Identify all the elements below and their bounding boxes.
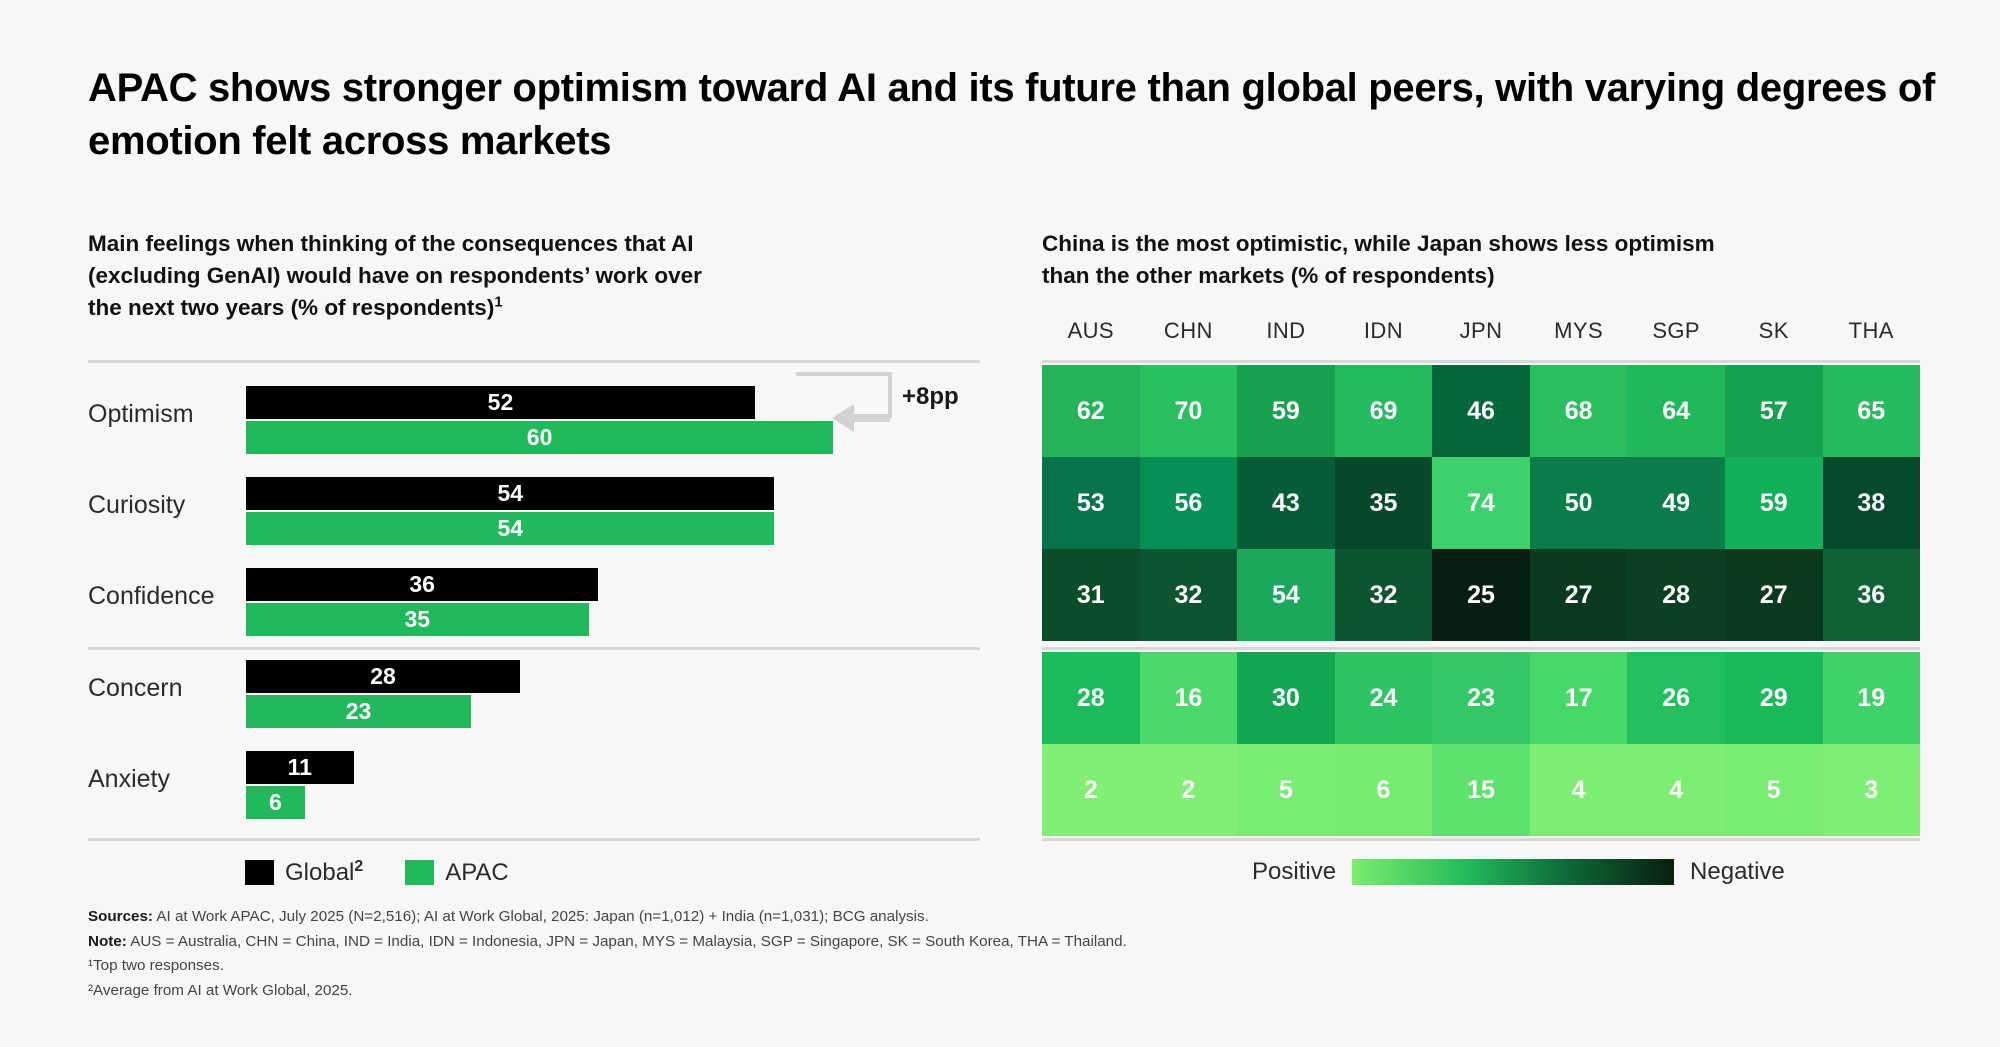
bar-group-confidence: Confidence3635 (88, 568, 980, 636)
heatmap-cell-confidence-tha: 36 (1823, 549, 1921, 641)
callout-arrow-icon (790, 366, 1010, 436)
bar-apac-anxiety: 6 (246, 786, 305, 819)
bar-global-concern: 28 (246, 660, 520, 693)
bar-category-label-curiosity: Curiosity (88, 491, 240, 520)
left-subtitle-line-1: Main feelings when thinking of the conse… (88, 231, 693, 256)
column-header-sk: SK (1725, 318, 1823, 344)
gradient-legend-label-negative: Negative (1690, 858, 1785, 886)
bar-value-label: 6 (269, 791, 282, 814)
heatmap-cell-optimism-tha: 65 (1823, 365, 1921, 457)
bar-value-label: 23 (346, 700, 372, 723)
bar-value-label: 36 (409, 573, 435, 596)
legend-item-apac: APAC (405, 859, 509, 887)
heatmap-cell-anxiety-ind: 5 (1237, 744, 1335, 836)
page-title: APAC shows stronger optimism toward AI a… (88, 62, 1938, 168)
footnote-sources: Sources: AI at Work APAC, July 2025 (N=2… (88, 905, 1588, 930)
legend-label-global: Global2 (285, 858, 363, 887)
column-header-chn: CHN (1140, 318, 1238, 344)
heatmap-cell-curiosity-chn: 56 (1140, 457, 1238, 549)
heatmap-group-negative: 2816302423172629192256154453 (1042, 652, 1920, 836)
left-subtitle-line-3: the next two years (% of respondents) (88, 295, 494, 320)
footnote-note: Note: AUS = Australia, CHN = China, IND … (88, 930, 1588, 955)
bar-category-label-confidence: Confidence (88, 582, 240, 611)
legend-item-global: Global2 (245, 858, 363, 887)
gradient-legend-bar (1352, 859, 1674, 885)
right-divider-mid (1042, 647, 1920, 650)
bar-value-label: 11 (288, 756, 312, 779)
bar-global-optimism: 52 (246, 386, 755, 419)
heatmap-cell-concern-sk: 29 (1725, 652, 1823, 744)
bar-group-anxiety: Anxiety116 (88, 751, 980, 819)
legend-global-footnote-marker: 2 (354, 858, 363, 875)
legend-label-apac: APAC (445, 859, 509, 887)
heatmap-cell-optimism-jpn: 46 (1432, 365, 1530, 457)
heatmap-column-headers: AUS CHN IND IDN JPN MYS SGP SK THA (1042, 318, 1920, 344)
heatmap-cell-concern-jpn: 23 (1432, 652, 1530, 744)
heatmap-cell-optimism-mys: 68 (1530, 365, 1628, 457)
heatmap-cell-concern-sgp: 26 (1627, 652, 1725, 744)
heatmap-cell-confidence-idn: 32 (1335, 549, 1433, 641)
right-subtitle-line-2: than the other markets (% of respondents… (1042, 263, 1495, 288)
heatmap-cell-curiosity-sk: 59 (1725, 457, 1823, 549)
heatmap-cell-optimism-chn: 70 (1140, 365, 1238, 457)
right-divider-bottom (1042, 838, 1920, 841)
heatmap-row-anxiety: 2256154453 (1042, 744, 1920, 836)
heatmap-cell-confidence-sgp: 28 (1627, 549, 1725, 641)
heatmap-cell-concern-aus: 28 (1042, 652, 1140, 744)
heatmap-cell-optimism-sk: 57 (1725, 365, 1823, 457)
delta-callout: +8pp (790, 366, 1010, 436)
heatmap-cell-anxiety-mys: 4 (1530, 744, 1628, 836)
heatmap-group-positive: 6270596946686457655356433574504959383132… (1042, 365, 1920, 641)
heatmap-cell-optimism-sgp: 64 (1627, 365, 1725, 457)
heatmap-cell-optimism-ind: 59 (1237, 365, 1335, 457)
heatmap-cell-concern-mys: 17 (1530, 652, 1628, 744)
heatmap-cell-curiosity-aus: 53 (1042, 457, 1140, 549)
bar-global-anxiety: 11 (246, 751, 354, 784)
heatmap-cell-anxiety-idn: 6 (1335, 744, 1433, 836)
heatmap-cell-anxiety-jpn: 15 (1432, 744, 1530, 836)
column-header-aus: AUS (1042, 318, 1140, 344)
column-header-ind: IND (1237, 318, 1335, 344)
bar-value-label: 54 (497, 517, 523, 540)
footnote-1: ¹Top two responses. (88, 954, 1588, 979)
slide-canvas: APAC shows stronger optimism toward AI a… (0, 0, 2000, 1047)
heatmap-cell-confidence-mys: 27 (1530, 549, 1628, 641)
heatmap-cell-confidence-aus: 31 (1042, 549, 1140, 641)
heatmap-cell-anxiety-chn: 2 (1140, 744, 1238, 836)
bar-global-confidence: 36 (246, 568, 598, 601)
heatmap-row-confidence: 313254322527282736 (1042, 549, 1920, 641)
footnote-note-text: AUS = Australia, CHN = China, IND = Indi… (127, 933, 1127, 950)
bar-track-curiosity: 5454 (246, 477, 980, 545)
bar-global-curiosity: 54 (246, 477, 774, 510)
bar-category-label-concern: Concern (88, 674, 240, 703)
series-legend: Global2 APAC (245, 858, 535, 887)
heatmap-cell-concern-idn: 24 (1335, 652, 1433, 744)
left-divider-bottom (88, 838, 980, 841)
legend-swatch-global (245, 860, 274, 885)
right-divider-top (1042, 360, 1920, 363)
bar-track-concern: 2823 (246, 660, 980, 728)
bar-track-anxiety: 116 (246, 751, 980, 819)
bar-category-label-optimism: Optimism (88, 400, 240, 429)
bar-apac-confidence: 35 (246, 603, 589, 636)
heatmap-cell-confidence-ind: 54 (1237, 549, 1335, 641)
bar-track-confidence: 3635 (246, 568, 980, 636)
heatmap-cell-curiosity-jpn: 74 (1432, 457, 1530, 549)
left-panel-subtitle: Main feelings when thinking of the conse… (88, 228, 918, 324)
heatmap-cell-anxiety-aus: 2 (1042, 744, 1140, 836)
heatmap-cell-curiosity-sgp: 49 (1627, 457, 1725, 549)
heatmap-cell-anxiety-sk: 5 (1725, 744, 1823, 836)
right-panel-subtitle: China is the most optimistic, while Japa… (1042, 228, 1942, 292)
heatmap-cell-curiosity-tha: 38 (1823, 457, 1921, 549)
bar-category-label-anxiety: Anxiety (88, 765, 240, 794)
footnote-sources-text: AI at Work APAC, July 2025 (N=2,516); AI… (153, 908, 929, 925)
column-header-jpn: JPN (1432, 318, 1530, 344)
heatmap-cell-confidence-jpn: 25 (1432, 549, 1530, 641)
column-header-mys: MYS (1530, 318, 1628, 344)
heatmap-row-concern: 281630242317262919 (1042, 652, 1920, 744)
heatmap-cell-confidence-sk: 27 (1725, 549, 1823, 641)
bar-group-curiosity: Curiosity5454 (88, 477, 980, 545)
heatmap-cell-anxiety-tha: 3 (1823, 744, 1921, 836)
bar-value-label: 60 (527, 426, 553, 449)
bar-apac-optimism: 60 (246, 421, 833, 454)
heatmap-cell-optimism-aus: 62 (1042, 365, 1140, 457)
bar-value-label: 52 (488, 391, 514, 414)
gradient-legend: Positive Negative (1252, 858, 1785, 886)
right-subtitle-line-1: China is the most optimistic, while Japa… (1042, 231, 1715, 256)
footnotes: Sources: AI at Work APAC, July 2025 (N=2… (88, 905, 1588, 1004)
legend-swatch-apac (405, 860, 434, 885)
footnote-note-label: Note: (88, 933, 127, 950)
heatmap-row-optimism: 627059694668645765 (1042, 365, 1920, 457)
heatmap-cell-confidence-chn: 32 (1140, 549, 1238, 641)
delta-callout-label: +8pp (902, 383, 959, 411)
bar-apac-concern: 23 (246, 695, 471, 728)
column-header-idn: IDN (1335, 318, 1433, 344)
heatmap-cell-concern-tha: 19 (1823, 652, 1921, 744)
heatmap-row-curiosity: 535643357450495938 (1042, 457, 1920, 549)
left-subtitle-line-2: (excluding GenAI) would have on responde… (88, 263, 702, 288)
heatmap-cell-optimism-idn: 69 (1335, 365, 1433, 457)
heatmap-cell-curiosity-ind: 43 (1237, 457, 1335, 549)
footnote-sources-label: Sources: (88, 908, 153, 925)
gradient-legend-label-positive: Positive (1252, 858, 1336, 886)
bar-value-label: 54 (497, 482, 523, 505)
heatmap-cell-concern-ind: 30 (1237, 652, 1335, 744)
footnote-2: ²Average from AI at Work Global, 2025. (88, 979, 1588, 1004)
heatmap-cell-curiosity-mys: 50 (1530, 457, 1628, 549)
heatmap-cell-concern-chn: 16 (1140, 652, 1238, 744)
column-header-sgp: SGP (1627, 318, 1725, 344)
bar-apac-curiosity: 54 (246, 512, 774, 545)
column-header-tha: THA (1823, 318, 1921, 344)
left-subtitle-footnote-marker: 1 (494, 294, 502, 310)
heatmap-cell-anxiety-sgp: 4 (1627, 744, 1725, 836)
bar-group-concern: Concern2823 (88, 660, 980, 728)
bar-value-label: 35 (404, 608, 430, 631)
bar-value-label: 28 (370, 665, 396, 688)
heatmap-cell-curiosity-idn: 35 (1335, 457, 1433, 549)
